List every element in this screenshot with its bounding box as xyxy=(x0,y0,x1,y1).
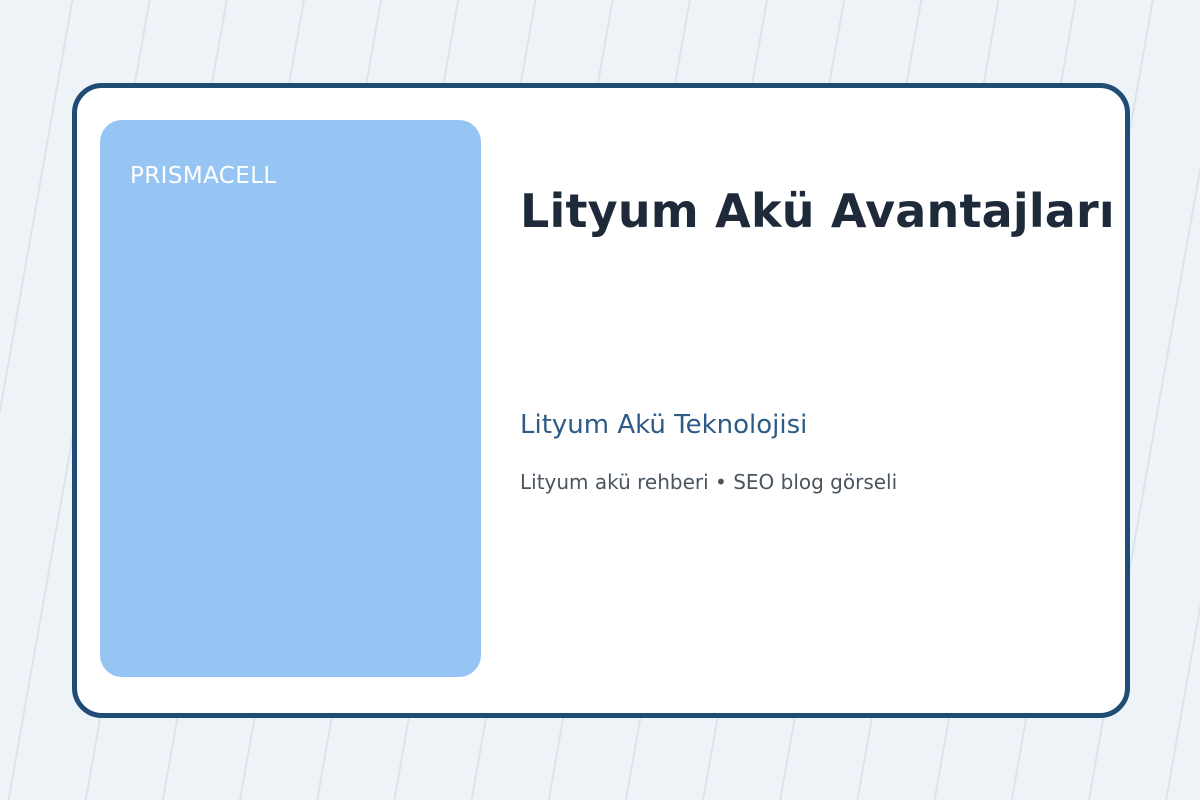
content-card: PRISMACELL Lityum Akü Avantajları Lityum… xyxy=(72,83,1130,718)
screenshot-stage: PRISMACELL Lityum Akü Avantajları Lityum… xyxy=(0,0,1200,800)
page-meta-text: Lityum akü rehberi • SEO blog görseli xyxy=(520,469,897,495)
brand-name-label: PRISMACELL xyxy=(130,162,277,190)
brand-visual-panel: PRISMACELL xyxy=(100,120,481,677)
page-subtitle: Lityum Akü Teknolojisi xyxy=(520,409,807,441)
text-content-panel: Lityum Akü Avantajları Lityum Akü Teknol… xyxy=(520,120,1125,681)
page-title: Lityum Akü Avantajları xyxy=(520,183,1115,239)
